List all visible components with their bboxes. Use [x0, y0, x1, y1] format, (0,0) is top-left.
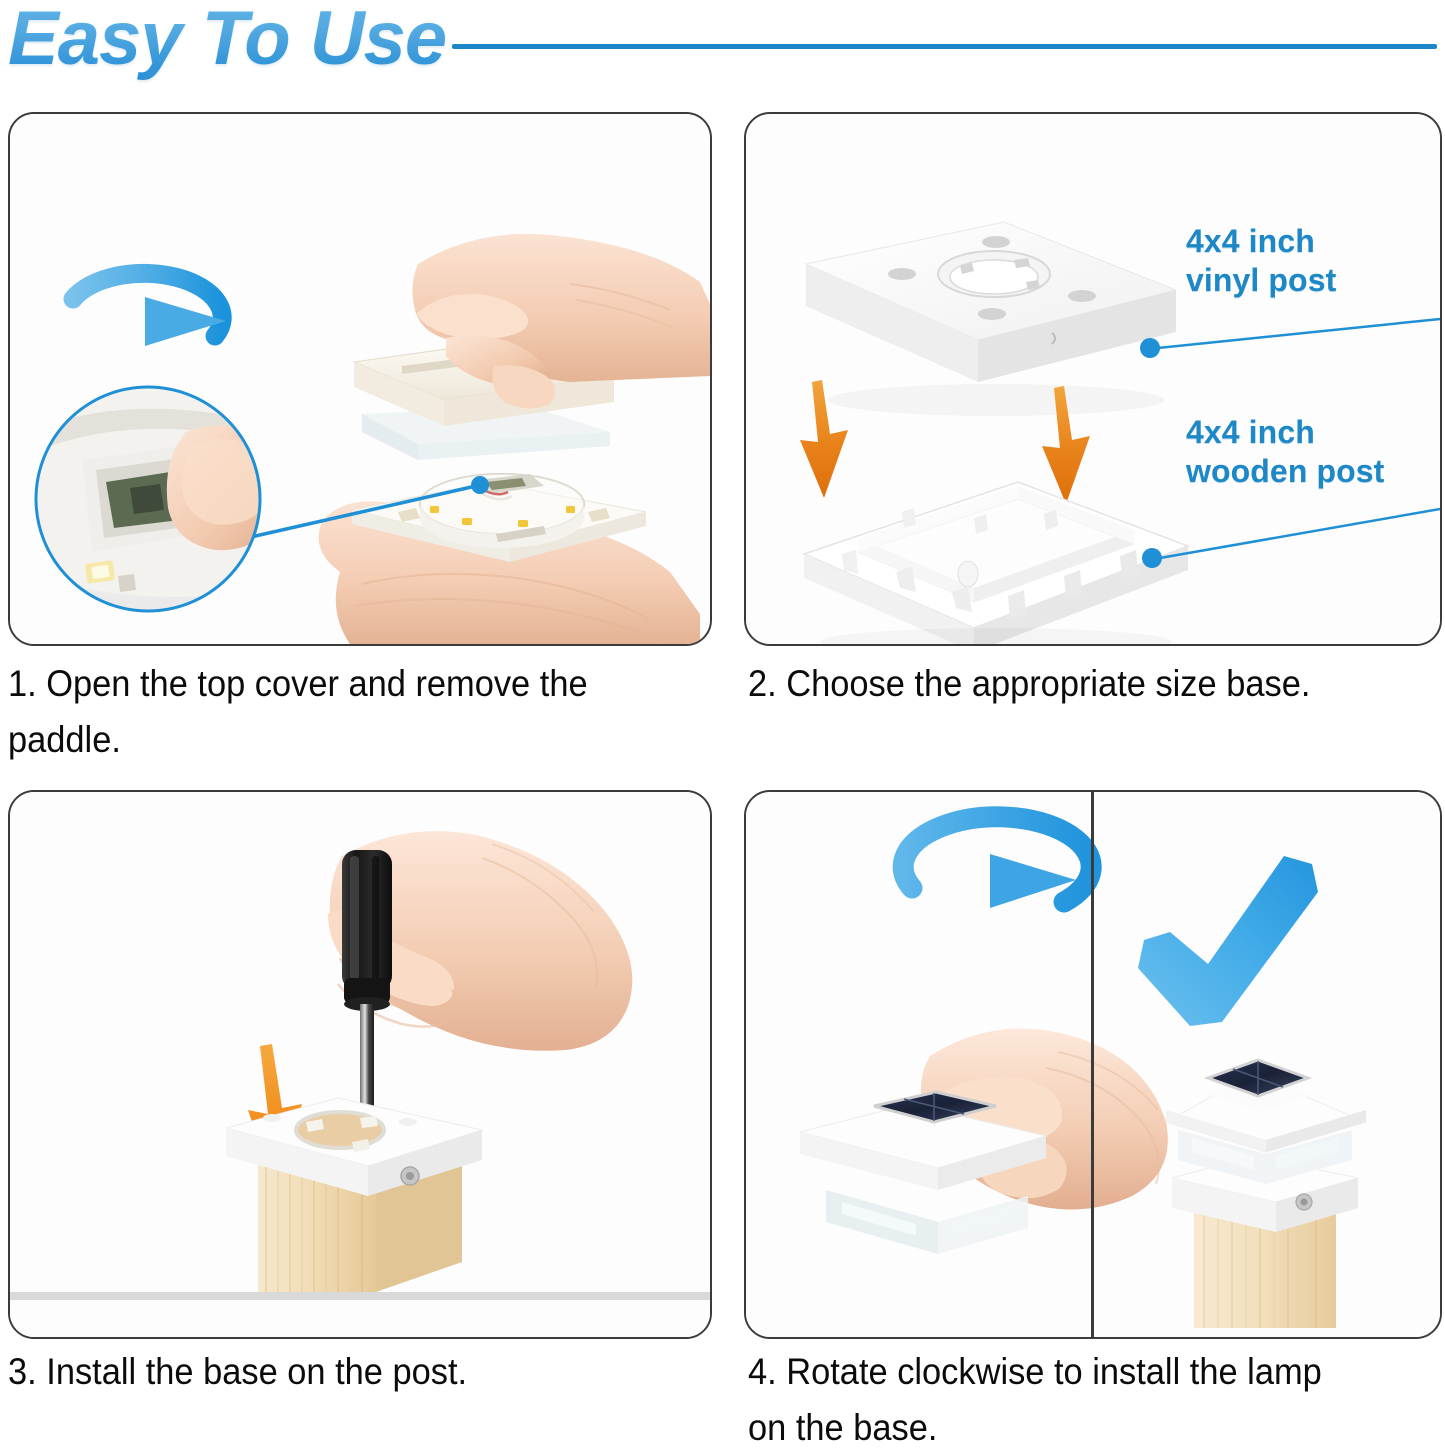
step-2-panel	[744, 112, 1442, 646]
wooden-post-label: 4x4 inch wooden post	[1186, 413, 1384, 491]
instruction-infographic: Easy To Use	[0, 0, 1445, 1448]
step-4-caption: 4. Rotate clockwise to install the lamp …	[748, 1344, 1445, 1456]
step-3-panel	[8, 790, 712, 1339]
step-1-panel	[8, 112, 712, 646]
step-3-illustration	[10, 792, 710, 1337]
page-title: Easy To Use	[8, 0, 446, 82]
wooden-post-with-base	[226, 1098, 482, 1292]
step-2-illustration	[746, 114, 1440, 644]
step-2-caption: 2. Choose the appropriate size base.	[748, 656, 1445, 712]
step-3-caption: 3. Install the base on the post.	[8, 1344, 715, 1400]
header: Easy To Use	[0, 0, 1445, 92]
step-4-panel	[744, 790, 1442, 1339]
vinyl-post-label: 4x4 inch vinyl post	[1186, 222, 1336, 300]
step-1-caption: 1. Open the top cover and remove the pad…	[8, 656, 715, 768]
step-1-illustration	[10, 114, 710, 644]
panel-4-divider	[1092, 792, 1094, 1337]
title-divider	[452, 44, 1437, 49]
